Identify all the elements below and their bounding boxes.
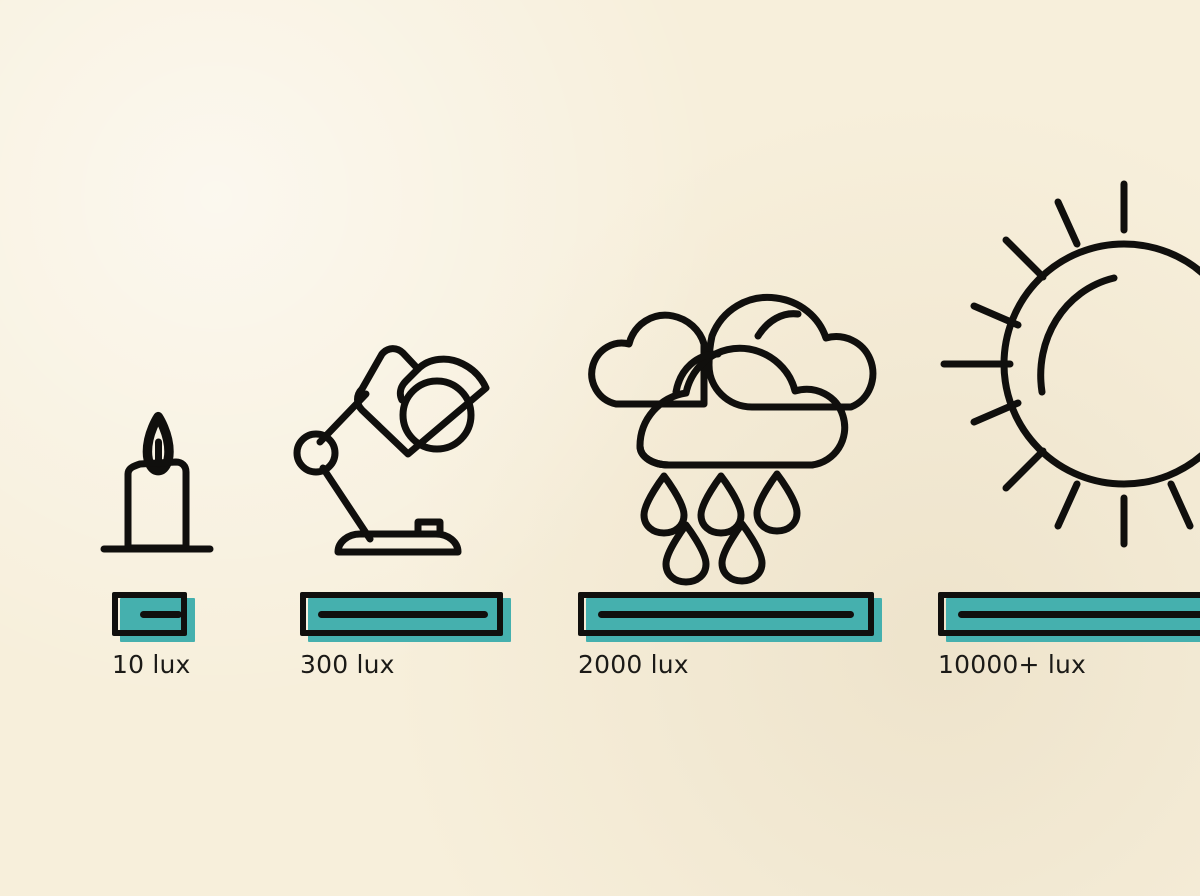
bar-tick xyxy=(958,611,1200,618)
bar-group-candle xyxy=(112,592,202,642)
bar-group-desk-lamp xyxy=(300,592,515,642)
bar-tick xyxy=(318,611,488,618)
bar-group-rain-cloud xyxy=(578,592,888,642)
bar-label-rain-cloud: 2000 lux xyxy=(578,650,689,679)
bar-label-candle: 10 lux xyxy=(112,650,191,679)
desk-lamp-icon xyxy=(296,336,506,566)
bar-group-sun xyxy=(938,592,1200,642)
bar-tick xyxy=(598,611,854,618)
sun-icon xyxy=(952,168,1200,558)
bar-label-desk-lamp: 300 lux xyxy=(300,650,395,679)
bar-label-sun: 10000+ lux xyxy=(938,650,1086,679)
bar-tick xyxy=(140,611,182,618)
icon-layer xyxy=(0,0,1200,896)
lux-infographic: 10 lux 300 lux 2000 lux 10000+ lux xyxy=(0,0,1200,896)
candle-icon xyxy=(88,372,228,562)
rain-cloud-icon xyxy=(576,276,886,566)
